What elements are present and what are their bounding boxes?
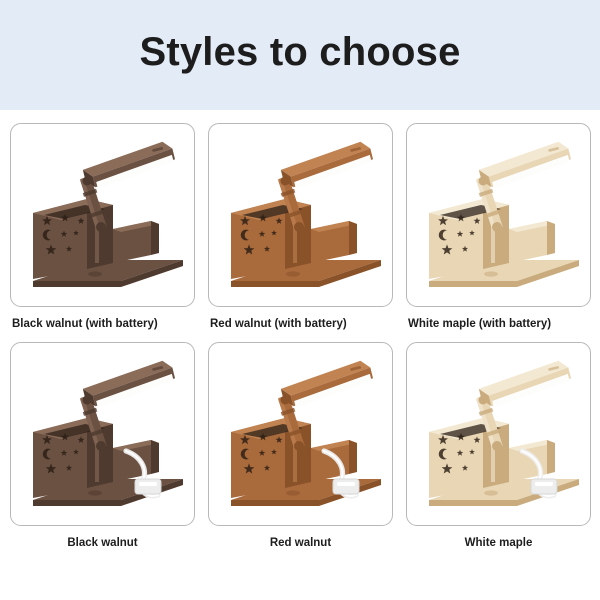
tray-icon: [509, 440, 555, 482]
style-grid: Black walnut (with battery): [0, 110, 600, 549]
product-image: [11, 343, 194, 525]
product-image: [407, 124, 590, 306]
page-title: Styles to choose: [139, 32, 460, 78]
lamp-head-icon: [476, 140, 573, 191]
lamp-head-icon: [278, 359, 375, 410]
style-row-with-battery: Black walnut (with battery): [10, 123, 590, 330]
tray-icon: [113, 221, 159, 263]
tray-icon: [509, 221, 555, 263]
product-image: [209, 343, 392, 525]
lamp-illustration: [17, 348, 189, 520]
product-caption: White maple: [406, 537, 591, 549]
product-caption: Black walnut: [10, 537, 195, 549]
product-caption: Red walnut: [208, 537, 393, 549]
tray-icon: [311, 221, 357, 263]
product-card[interactable]: [208, 342, 393, 526]
lamp-illustration: [17, 129, 189, 301]
lamp-illustration: [215, 348, 387, 520]
product-image: [407, 343, 590, 525]
lamp-head-icon: [80, 359, 177, 410]
lamp-illustration: [215, 129, 387, 301]
product-card[interactable]: [406, 342, 591, 526]
tray-icon: [113, 440, 159, 482]
style-option-white-maple[interactable]: White maple: [406, 342, 591, 549]
style-option-white-maple-battery[interactable]: White maple (with battery): [406, 123, 591, 330]
product-card[interactable]: [406, 123, 591, 307]
lamp-head-icon: [80, 140, 177, 191]
style-option-black-walnut-battery[interactable]: Black walnut (with battery): [10, 123, 195, 330]
product-image: [11, 124, 194, 306]
style-option-black-walnut[interactable]: Black walnut: [10, 342, 195, 549]
style-row-no-battery: Black walnut: [10, 342, 590, 549]
lamp-head-icon: [278, 140, 375, 191]
product-caption: Red walnut (with battery): [208, 318, 393, 330]
style-option-red-walnut[interactable]: Red walnut: [208, 342, 393, 549]
style-option-red-walnut-battery[interactable]: Red walnut (with battery): [208, 123, 393, 330]
lamp-illustration: [413, 348, 585, 520]
product-card[interactable]: [10, 123, 195, 307]
page-header: Styles to choose: [0, 0, 600, 110]
product-caption: Black walnut (with battery): [10, 318, 195, 330]
product-caption: White maple (with battery): [406, 318, 591, 330]
lamp-illustration: [413, 129, 585, 301]
product-card[interactable]: [208, 123, 393, 307]
product-card[interactable]: [10, 342, 195, 526]
product-image: [209, 124, 392, 306]
lamp-head-icon: [476, 359, 573, 410]
tray-icon: [311, 440, 357, 482]
